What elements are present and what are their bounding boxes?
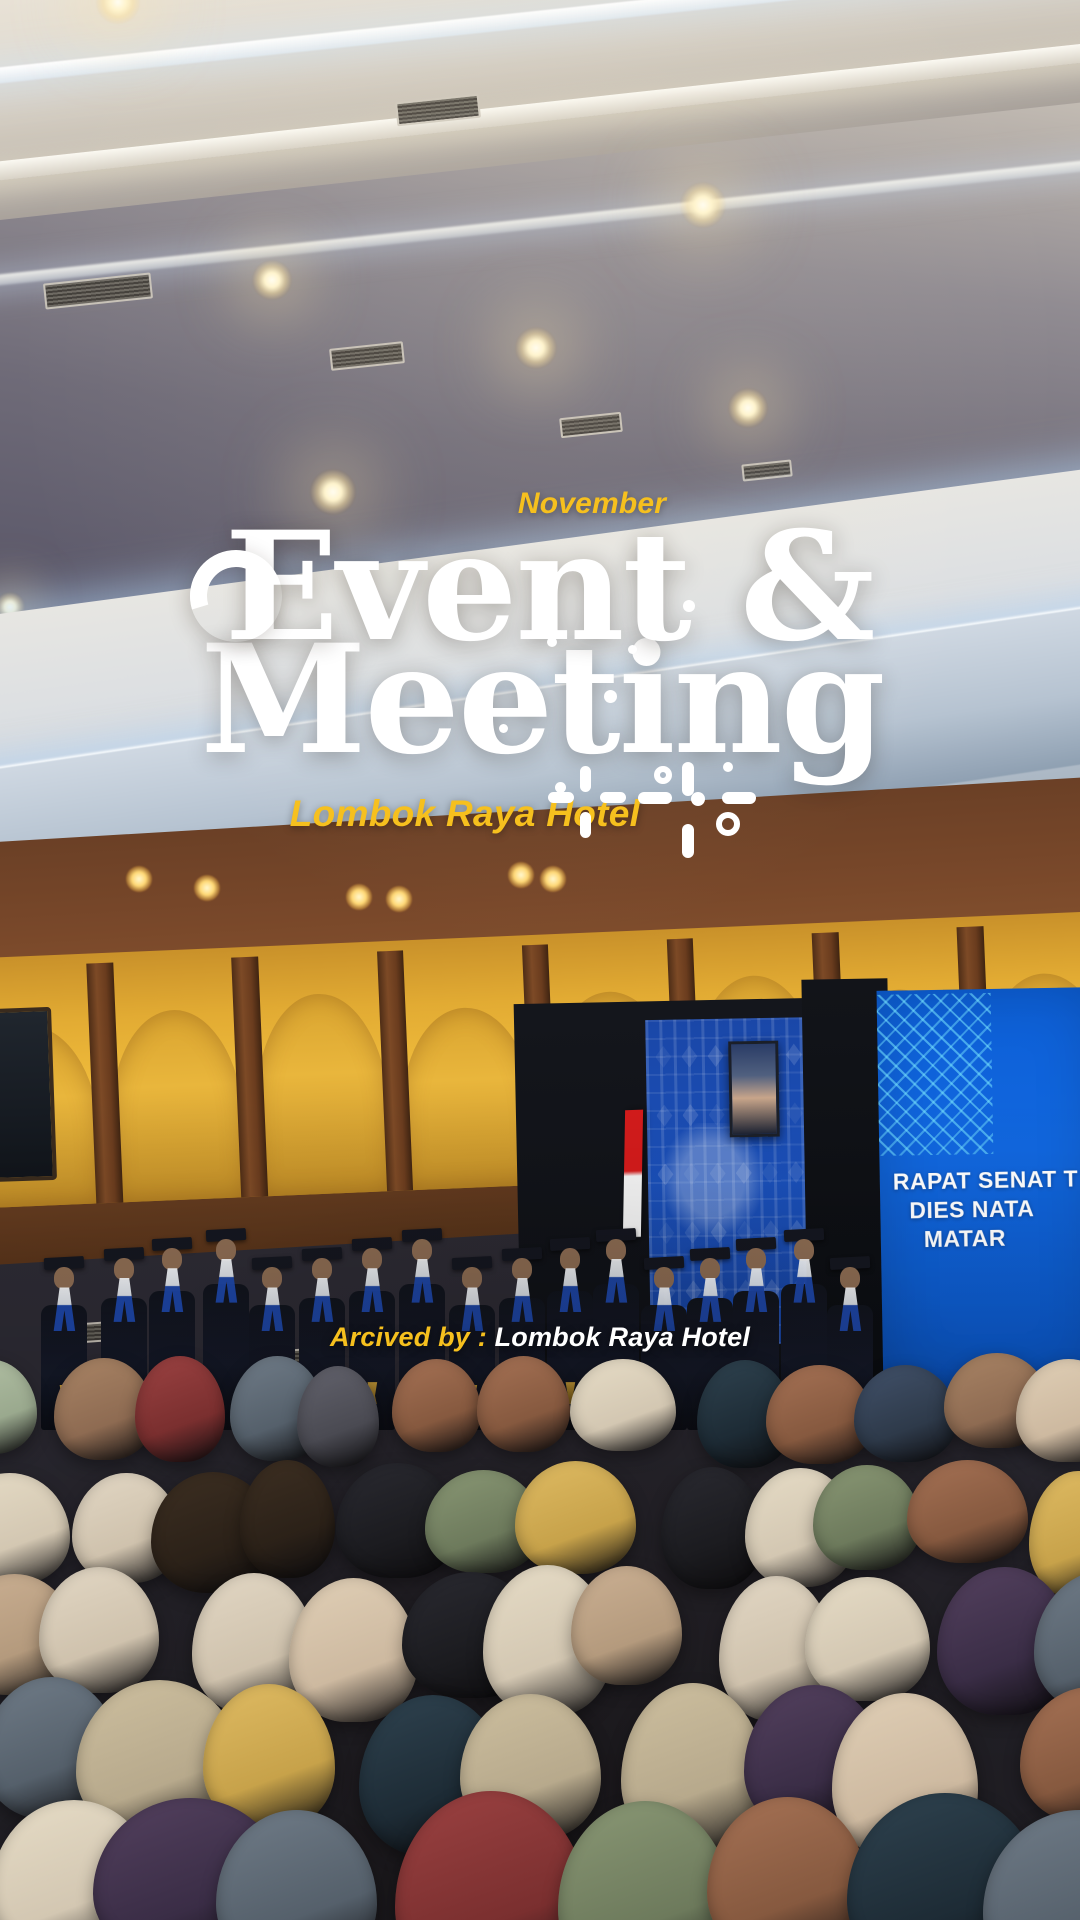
sparkle-dash <box>580 766 591 792</box>
sparkle-dot <box>628 645 637 654</box>
sparkle-dash <box>548 792 574 803</box>
headline-line-1-text: Event & <box>225 499 874 675</box>
sparkle-ring <box>654 766 672 784</box>
sparkle-dash <box>682 824 694 858</box>
sparkle-dot <box>555 782 566 793</box>
sparkle-dash <box>682 762 694 796</box>
audience-head <box>854 1365 957 1462</box>
headline-line-1: Event & <box>0 520 1080 655</box>
sparkle-dot <box>723 762 733 772</box>
sparkle-ring <box>716 812 740 836</box>
sparkle-dash <box>638 792 672 804</box>
venue-subtitle: Lombok Raya Hotel <box>0 793 1080 835</box>
sparkle-dash <box>580 812 591 838</box>
sparkle-dot <box>547 637 557 647</box>
sparkle-dash <box>722 792 756 804</box>
poster-canvas: RAPAT SENAT T DIES NATA MATAR November E… <box>0 0 1080 1920</box>
sparkle-dot <box>691 792 705 806</box>
credit-prefix: Arcived by : <box>330 1322 495 1352</box>
sparkle-dot <box>683 600 695 612</box>
credit-name: Lombok Raya Hotel <box>495 1322 750 1352</box>
sparkle-dot <box>499 724 508 733</box>
sparkle-dash <box>600 792 626 803</box>
credit-line: Arcived by : Lombok Raya Hotel <box>0 1322 1080 1353</box>
sparkle-dot <box>604 690 617 703</box>
headline-block: Event & Meeting <box>0 520 1080 768</box>
